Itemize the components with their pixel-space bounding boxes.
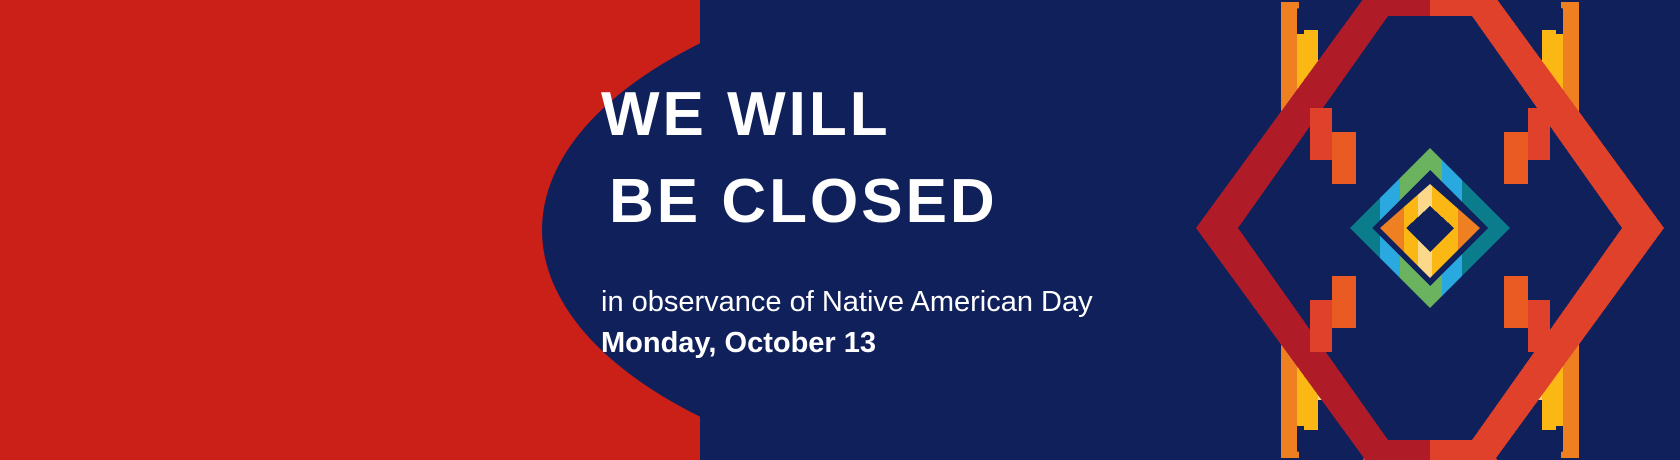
- southwestern-geometric-pattern: [1180, 0, 1680, 460]
- headline-line-2: BE CLOSED: [609, 159, 1161, 246]
- closure-announcement-banner: WE WILL BE CLOSED in observance of Nativ…: [0, 0, 1680, 460]
- announcement-text-block: WE WILL BE CLOSED in observance of Nativ…: [601, 72, 1161, 364]
- center-corner-notches: [1356, 184, 1372, 200]
- headline-line-1: WE WILL: [601, 72, 1161, 159]
- subline-group: in observance of Native American Day Mon…: [601, 282, 1161, 364]
- closure-date-text: Monday, October 13: [601, 323, 1161, 364]
- observance-text: in observance of Native American Day: [601, 282, 1161, 323]
